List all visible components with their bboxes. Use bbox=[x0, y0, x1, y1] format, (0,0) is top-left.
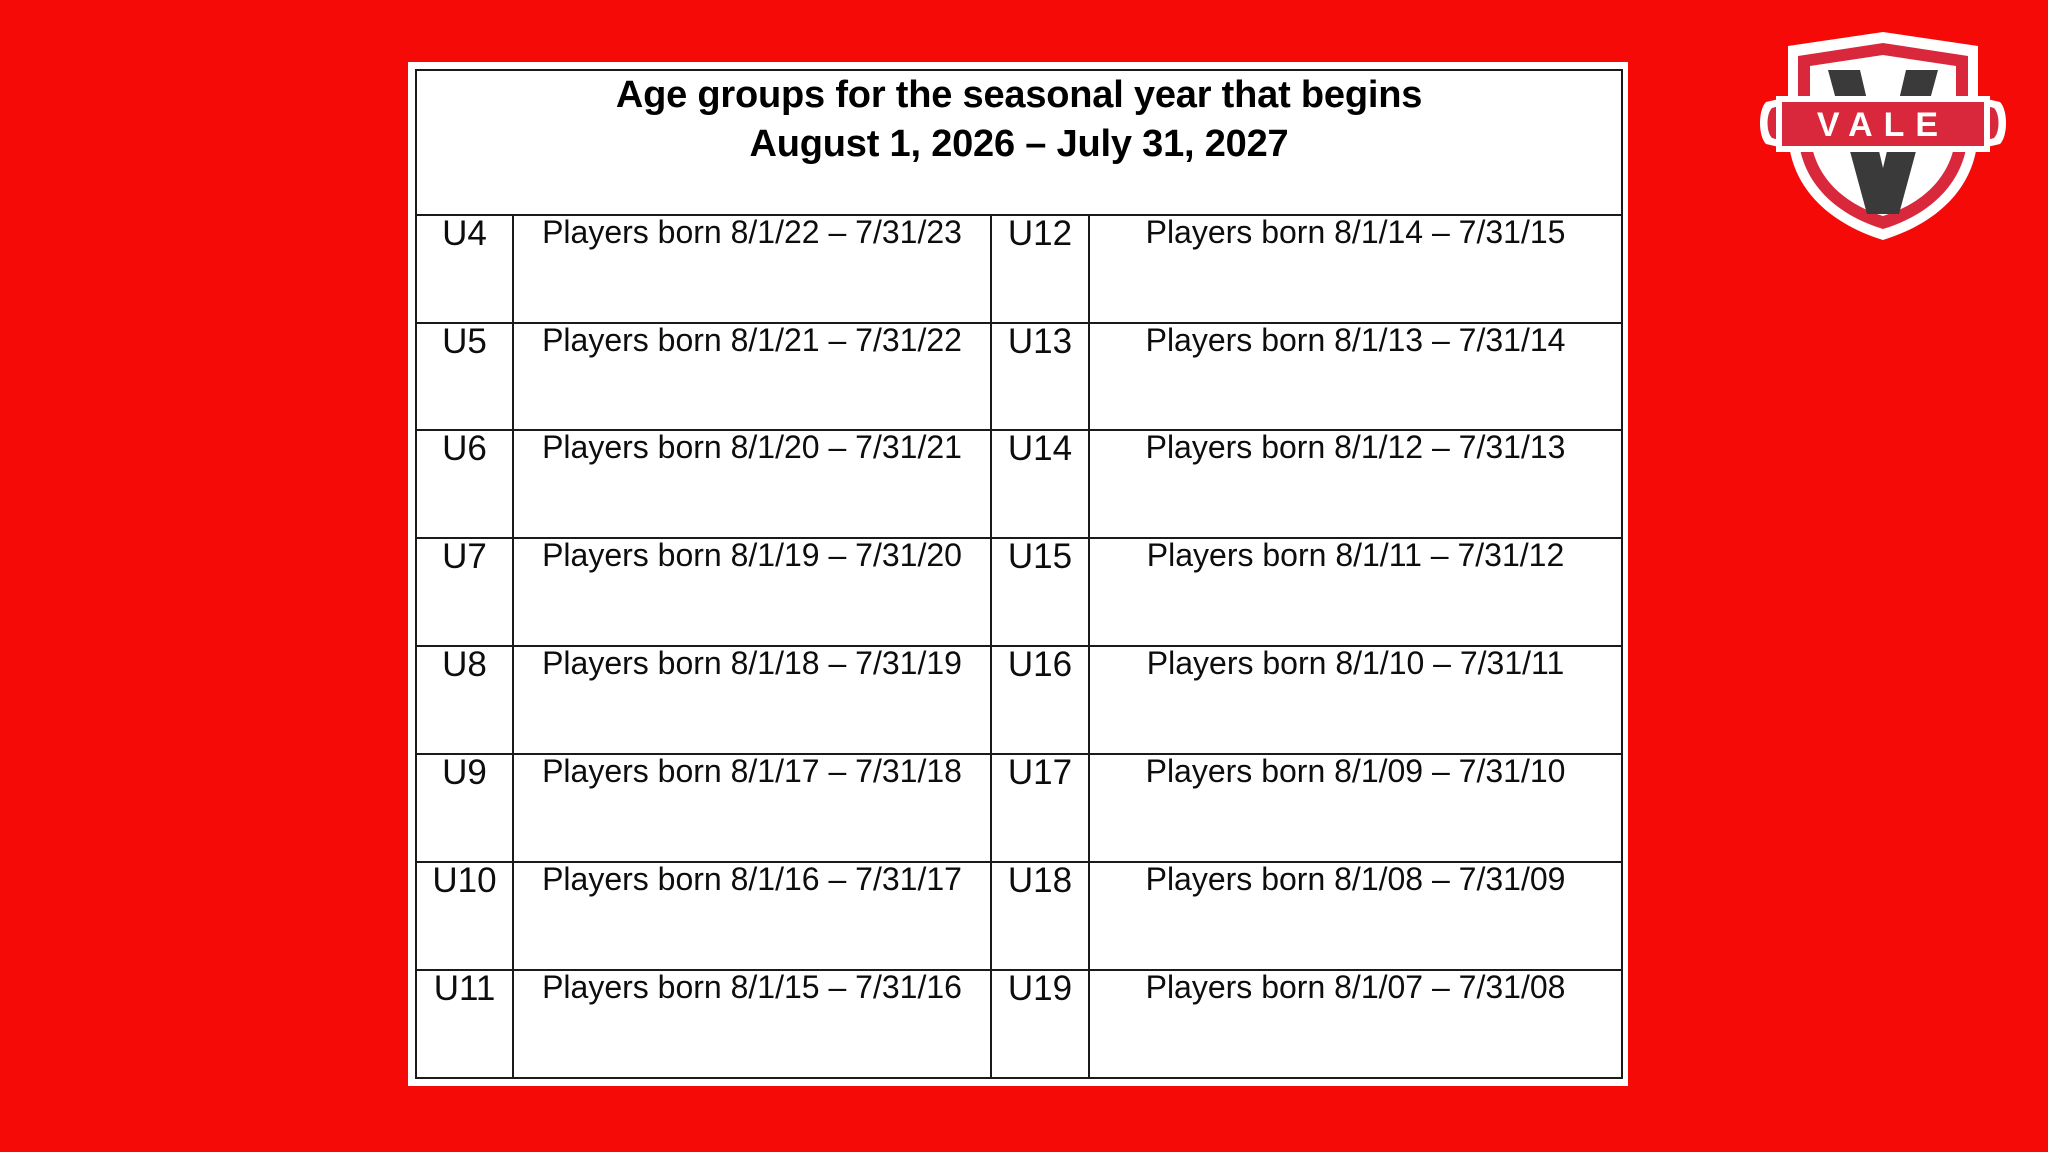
age-group-cell: U18 bbox=[991, 862, 1089, 970]
birth-range-cell: Players born 8/1/10 – 7/31/11 bbox=[1089, 646, 1622, 754]
birth-range-cell: Players born 8/1/14 – 7/31/15 bbox=[1089, 215, 1622, 323]
age-groups-card: Age groups for the seasonal year that be… bbox=[408, 62, 1628, 1086]
birth-range-label: Players born 8/1/16 – 7/31/17 bbox=[514, 863, 990, 895]
age-group-cell: U13 bbox=[991, 323, 1089, 431]
birth-range-cell: Players born 8/1/12 – 7/31/13 bbox=[1089, 430, 1622, 538]
birth-range-cell: Players born 8/1/16 – 7/31/17 bbox=[513, 862, 991, 970]
age-group-label: U13 bbox=[992, 324, 1088, 359]
age-group-label: U11 bbox=[417, 971, 512, 1006]
table-row: U7 Players born 8/1/19 – 7/31/20 U15 Pla… bbox=[416, 538, 1622, 646]
age-group-label: U18 bbox=[992, 863, 1088, 898]
birth-range-label: Players born 8/1/13 – 7/31/14 bbox=[1090, 324, 1621, 356]
birth-range-label: Players born 8/1/20 – 7/31/21 bbox=[514, 431, 990, 463]
age-group-cell: U12 bbox=[991, 215, 1089, 323]
birth-range-label: Players born 8/1/11 – 7/31/12 bbox=[1090, 539, 1621, 571]
age-group-cell: U19 bbox=[991, 970, 1089, 1078]
age-group-label: U8 bbox=[417, 647, 512, 682]
birth-range-label: Players born 8/1/07 – 7/31/08 bbox=[1090, 971, 1621, 1003]
table-row: U6 Players born 8/1/20 – 7/31/21 U14 Pla… bbox=[416, 430, 1622, 538]
birth-range-cell: Players born 8/1/13 – 7/31/14 bbox=[1089, 323, 1622, 431]
title-line-2: August 1, 2026 – July 31, 2027 bbox=[417, 120, 1621, 169]
age-group-cell: U5 bbox=[416, 323, 513, 431]
table-row: U4 Players born 8/1/22 – 7/31/23 U12 Pla… bbox=[416, 215, 1622, 323]
age-group-label: U16 bbox=[992, 647, 1088, 682]
birth-range-cell: Players born 8/1/09 – 7/31/10 bbox=[1089, 754, 1622, 862]
birth-range-cell: Players born 8/1/21 – 7/31/22 bbox=[513, 323, 991, 431]
birth-range-cell: Players born 8/1/08 – 7/31/09 bbox=[1089, 862, 1622, 970]
birth-range-label: Players born 8/1/12 – 7/31/13 bbox=[1090, 431, 1621, 463]
birth-range-label: Players born 8/1/09 – 7/31/10 bbox=[1090, 755, 1621, 787]
birth-range-cell: Players born 8/1/17 – 7/31/18 bbox=[513, 754, 991, 862]
birth-range-cell: Players born 8/1/19 – 7/31/20 bbox=[513, 538, 991, 646]
birth-range-label: Players born 8/1/14 – 7/31/15 bbox=[1090, 216, 1621, 248]
birth-range-label: Players born 8/1/19 – 7/31/20 bbox=[514, 539, 990, 571]
age-group-cell: U10 bbox=[416, 862, 513, 970]
age-group-cell: U6 bbox=[416, 430, 513, 538]
birth-range-label: Players born 8/1/10 – 7/31/11 bbox=[1090, 647, 1621, 679]
age-group-cell: U17 bbox=[991, 754, 1089, 862]
vale-shield-logo: VALE bbox=[1752, 18, 2014, 250]
birth-range-cell: Players born 8/1/07 – 7/31/08 bbox=[1089, 970, 1622, 1078]
age-group-label: U9 bbox=[417, 755, 512, 790]
page-title: Age groups for the seasonal year that be… bbox=[416, 70, 1622, 215]
age-group-cell: U4 bbox=[416, 215, 513, 323]
table-row: U11 Players born 8/1/15 – 7/31/16 U19 Pl… bbox=[416, 970, 1622, 1078]
birth-range-cell: Players born 8/1/22 – 7/31/23 bbox=[513, 215, 991, 323]
age-group-label: U19 bbox=[992, 971, 1088, 1006]
age-group-cell: U14 bbox=[991, 430, 1089, 538]
age-group-cell: U8 bbox=[416, 646, 513, 754]
banner-text: VALE bbox=[1817, 106, 1949, 144]
age-groups-table: Age groups for the seasonal year that be… bbox=[415, 69, 1623, 1079]
age-group-label: U4 bbox=[417, 216, 512, 251]
age-group-label: U14 bbox=[992, 431, 1088, 466]
birth-range-label: Players born 8/1/18 – 7/31/19 bbox=[514, 647, 990, 679]
birth-range-label: Players born 8/1/15 – 7/31/16 bbox=[514, 971, 990, 1003]
age-group-cell: U11 bbox=[416, 970, 513, 1078]
age-group-label: U12 bbox=[992, 216, 1088, 251]
birth-range-cell: Players born 8/1/20 – 7/31/21 bbox=[513, 430, 991, 538]
table-row: U8 Players born 8/1/18 – 7/31/19 U16 Pla… bbox=[416, 646, 1622, 754]
birth-range-label: Players born 8/1/08 – 7/31/09 bbox=[1090, 863, 1621, 895]
table-title-row: Age groups for the seasonal year that be… bbox=[416, 70, 1622, 215]
age-group-label: U10 bbox=[417, 863, 512, 898]
age-group-cell: U9 bbox=[416, 754, 513, 862]
age-group-label: U5 bbox=[417, 324, 512, 359]
table-row: U9 Players born 8/1/17 – 7/31/18 U17 Pla… bbox=[416, 754, 1622, 862]
title-line-1: Age groups for the seasonal year that be… bbox=[417, 71, 1621, 120]
table-row: U5 Players born 8/1/21 – 7/31/22 U13 Pla… bbox=[416, 323, 1622, 431]
birth-range-label: Players born 8/1/17 – 7/31/18 bbox=[514, 755, 990, 787]
birth-range-label: Players born 8/1/22 – 7/31/23 bbox=[514, 216, 990, 248]
birth-range-cell: Players born 8/1/15 – 7/31/16 bbox=[513, 970, 991, 1078]
age-group-label: U15 bbox=[992, 539, 1088, 574]
table-row: U10 Players born 8/1/16 – 7/31/17 U18 Pl… bbox=[416, 862, 1622, 970]
birth-range-label: Players born 8/1/21 – 7/31/22 bbox=[514, 324, 990, 356]
age-group-label: U6 bbox=[417, 431, 512, 466]
age-group-label: U17 bbox=[992, 755, 1088, 790]
birth-range-cell: Players born 8/1/11 – 7/31/12 bbox=[1089, 538, 1622, 646]
age-group-cell: U7 bbox=[416, 538, 513, 646]
birth-range-cell: Players born 8/1/18 – 7/31/19 bbox=[513, 646, 991, 754]
age-group-label: U7 bbox=[417, 539, 512, 574]
age-group-cell: U15 bbox=[991, 538, 1089, 646]
age-group-cell: U16 bbox=[991, 646, 1089, 754]
